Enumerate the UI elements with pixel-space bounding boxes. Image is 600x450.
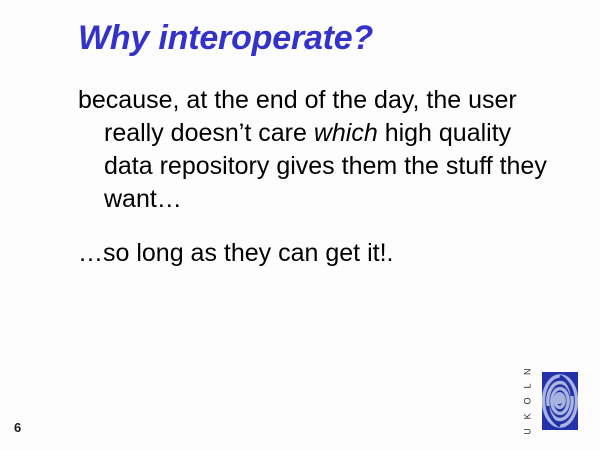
ukoln-logo: U K O L N: [520, 370, 582, 432]
body-paragraph-1: because, at the end of the day, the user…: [78, 84, 548, 216]
page-number: 6: [14, 420, 21, 436]
page-title: Why interoperate?: [78, 18, 548, 58]
body-paragraph-1-emphasis: which: [314, 119, 378, 147]
ukoln-wordmark-text: U K O L N: [523, 365, 533, 434]
ukoln-spiral-icon: [542, 372, 578, 430]
body-paragraph-2: …so long as they can get it!.: [78, 237, 548, 270]
slide-canvas: Why interoperate? because, at the end of…: [0, 0, 600, 450]
slide-body: because, at the end of the day, the user…: [78, 84, 548, 270]
ukoln-wordmark: U K O L N: [520, 370, 536, 430]
